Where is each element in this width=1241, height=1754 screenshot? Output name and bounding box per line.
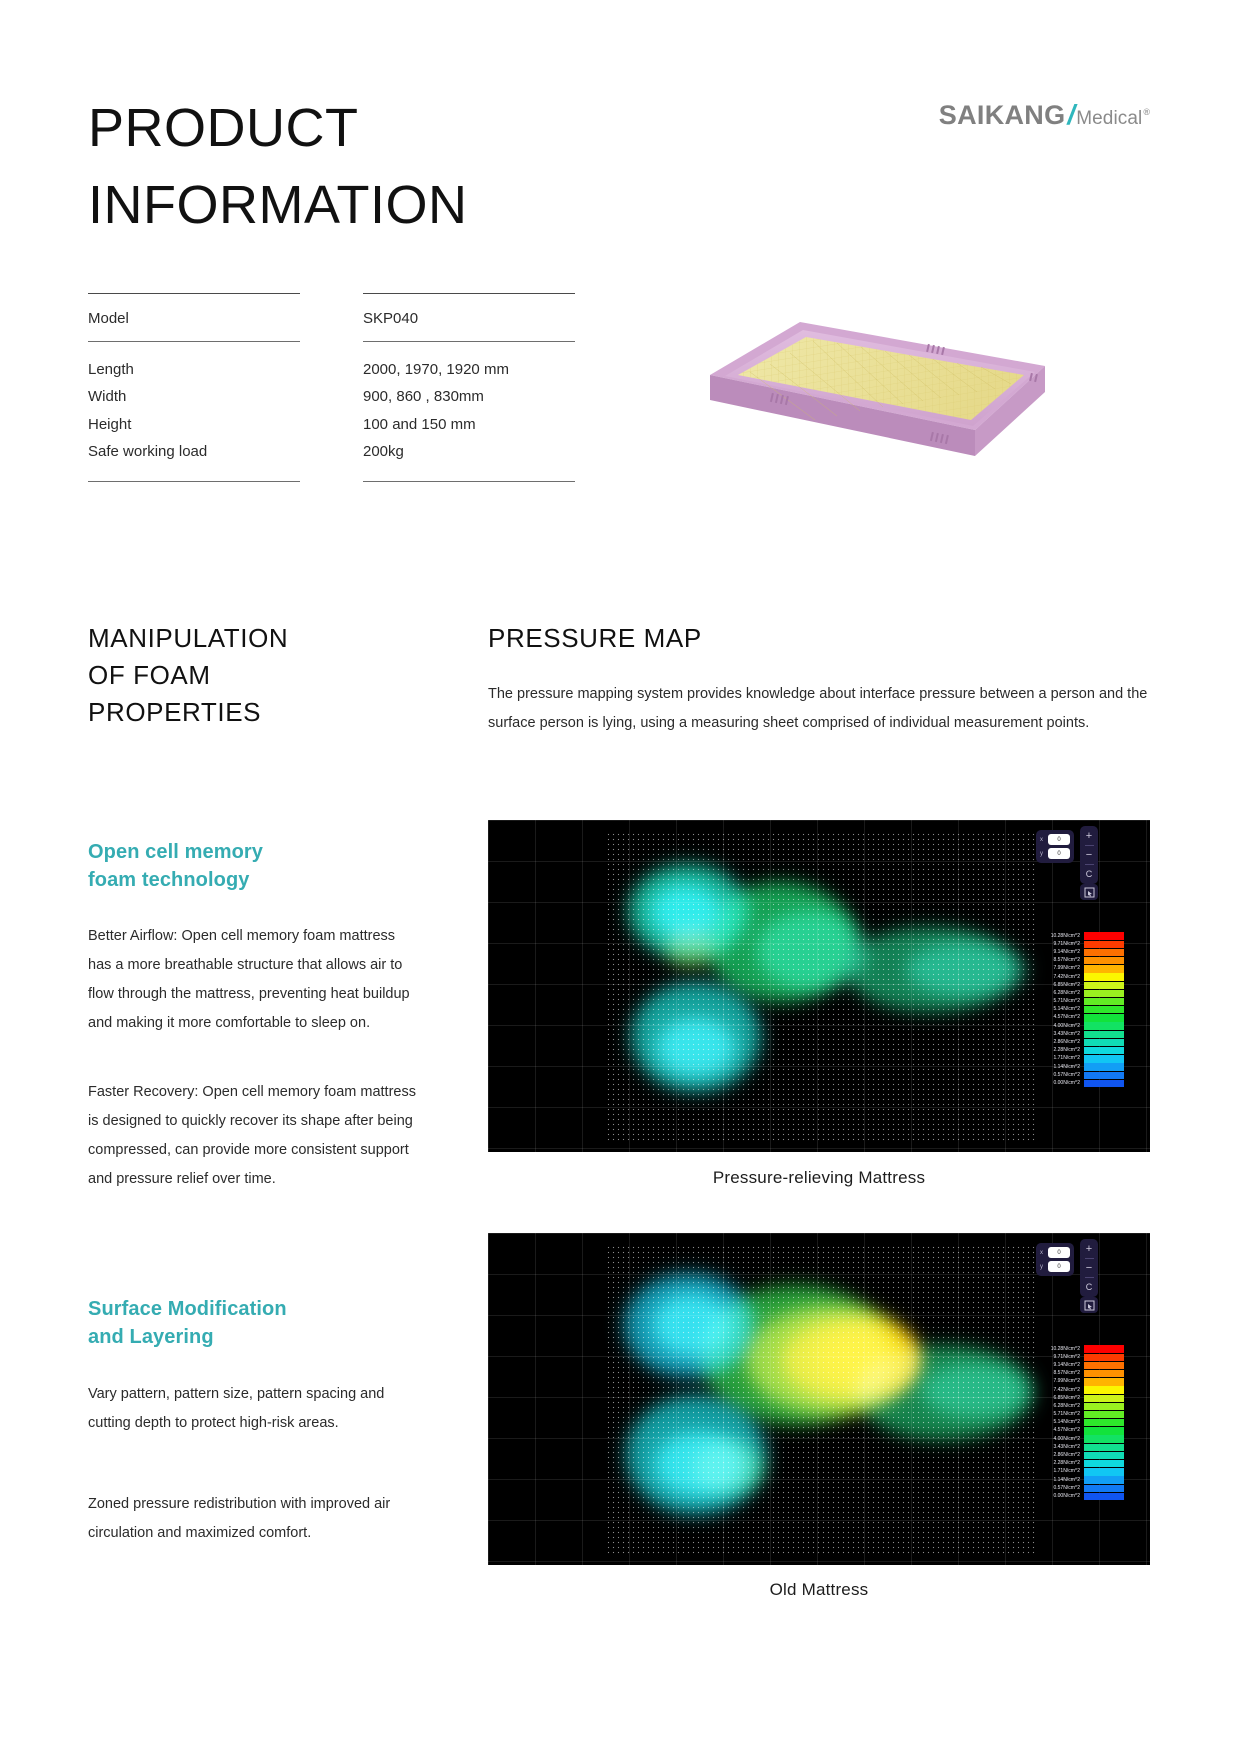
- pressure-legend-scale: 10.28N/cm^2 9.71N/cm^2 9.14N/cm^2 8.57N/…: [1040, 932, 1124, 1088]
- legend-item: 0.57N/cm^2: [1040, 1071, 1124, 1079]
- open-cell-paragraph-2: Faster Recovery: Open cell memory foam m…: [88, 1078, 420, 1194]
- y-axis-label: y: [1040, 1264, 1045, 1270]
- spec-label-length: Length: [88, 356, 333, 383]
- zoom-out-button[interactable]: −: [1082, 848, 1096, 862]
- legend-item: 1.71N/cm^2: [1040, 1468, 1124, 1476]
- legend-item: 2.28N/cm^2: [1040, 1047, 1124, 1055]
- legend-item: 9.14N/cm^2: [1040, 948, 1124, 956]
- product-information-page: PRODUCT INFORMATION SAIKANG / Medical ® …: [0, 0, 1241, 1754]
- legend-item: 4.57N/cm^2: [1040, 1014, 1124, 1022]
- spec-dimension-labels: Length Width Height Safe working load: [88, 342, 333, 481]
- spec-value-height: 100 and 150 mm: [363, 411, 608, 438]
- open-cell-heading-line-1: Open cell memory: [88, 838, 418, 866]
- spec-value-length: 2000, 1970, 1920 mm: [363, 356, 608, 383]
- legend-item: 6.28N/cm^2: [1040, 989, 1124, 997]
- toolbar-divider: [1085, 1277, 1094, 1278]
- brand-logo: SAIKANG / Medical ®: [939, 99, 1149, 131]
- select-region-button[interactable]: [1080, 1297, 1098, 1313]
- legend-item: 1.71N/cm^2: [1040, 1055, 1124, 1063]
- legend-item: 6.28N/cm^2: [1040, 1402, 1124, 1410]
- y-coordinate-value[interactable]: 0: [1048, 848, 1070, 859]
- open-cell-paragraph-1: Better Airflow: Open cell memory foam ma…: [88, 922, 420, 1038]
- spec-label-safe-working-load: Safe working load: [88, 438, 333, 465]
- legend-item: 4.57N/cm^2: [1040, 1427, 1124, 1435]
- y-coordinate-value[interactable]: 0: [1048, 1261, 1070, 1272]
- zoom-in-button[interactable]: +: [1082, 1242, 1096, 1256]
- legend-item: 2.86N/cm^2: [1040, 1451, 1124, 1459]
- brand-subtitle: Medical: [1076, 108, 1142, 130]
- surface-modification-heading: Surface Modification and Layering: [88, 1295, 418, 1352]
- surface-paragraph-2: Zoned pressure redistribution with impro…: [88, 1490, 408, 1548]
- pressure-sensor-dot-matrix: [606, 832, 1036, 1142]
- page-title: PRODUCT INFORMATION: [88, 90, 728, 243]
- legend-item: 0.00N/cm^2: [1040, 1079, 1124, 1087]
- legend-item: 9.71N/cm^2: [1040, 1353, 1124, 1361]
- surface-heading-line-2: and Layering: [88, 1323, 418, 1351]
- x-coordinate-value[interactable]: 0: [1048, 1247, 1070, 1258]
- legend-item: 0.00N/cm^2: [1040, 1492, 1124, 1500]
- legend-item: 9.71N/cm^2: [1040, 940, 1124, 948]
- pressure-map-panel-relieving[interactable]: Pressure Area Point 4796 pcs Area 1159 c…: [488, 820, 1150, 1152]
- panel-caption-relieving: Pressure-relieving Mattress: [488, 1168, 1150, 1188]
- spec-divider-bottom: [88, 481, 300, 482]
- legend-item: 9.14N/cm^2: [1040, 1361, 1124, 1369]
- panel-caption-old: Old Mattress: [488, 1580, 1150, 1600]
- specification-table: Model Length Width Height Safe working l…: [88, 293, 558, 482]
- y-axis-label: y: [1040, 851, 1045, 857]
- mattress-3d-illustration: [575, 280, 1045, 480]
- spec-model-value: SKP040: [363, 294, 608, 341]
- manipulation-heading-line-2: OF FOAM: [88, 657, 388, 694]
- spec-value-width: 900, 860 , 830mm: [363, 383, 608, 410]
- legend-item: 8.57N/cm^2: [1040, 957, 1124, 965]
- registered-trademark-icon: ®: [1143, 107, 1150, 117]
- legend-item: 1.14N/cm^2: [1040, 1063, 1124, 1071]
- spec-values-column: SKP040 2000, 1970, 1920 mm 900, 860 , 83…: [363, 293, 608, 482]
- legend-item: 8.57N/cm^2: [1040, 1370, 1124, 1378]
- toolbar-divider: [1085, 1258, 1094, 1259]
- legend-item: 6.85N/cm^2: [1040, 981, 1124, 989]
- open-cell-memory-foam-heading: Open cell memory foam technology: [88, 838, 418, 895]
- page-title-line-2: INFORMATION: [88, 167, 728, 244]
- legend-item: 7.42N/cm^2: [1040, 1386, 1124, 1394]
- pressure-map-panel-old[interactable]: Pressure Area Point 4796 pcs Area 1159 c…: [488, 1233, 1150, 1565]
- brand-name: SAIKANG: [939, 100, 1066, 131]
- x-axis-label: x: [1040, 837, 1045, 843]
- legend-item: 5.71N/cm^2: [1040, 1411, 1124, 1419]
- legend-item: 5.14N/cm^2: [1040, 1006, 1124, 1014]
- zoom-in-button[interactable]: +: [1082, 829, 1096, 843]
- legend-item: 7.99N/cm^2: [1040, 1378, 1124, 1386]
- spec-value-safe-working-load: 200kg: [363, 438, 608, 465]
- legend-item: 3.43N/cm^2: [1040, 1030, 1124, 1038]
- open-cell-heading-line-2: foam technology: [88, 866, 418, 894]
- surface-paragraph-1: Vary pattern, pattern size, pattern spac…: [88, 1380, 408, 1438]
- manipulation-heading-line-1: MANIPULATION: [88, 620, 388, 657]
- legend-item: 10.28N/cm^2: [1040, 932, 1124, 940]
- toolbar-divider: [1085, 845, 1094, 846]
- pressure-map-sensor-area[interactable]: [606, 832, 1036, 1142]
- reset-view-button[interactable]: C: [1082, 867, 1096, 881]
- legend-item: 5.71N/cm^2: [1040, 998, 1124, 1006]
- spec-model-label: Model: [88, 294, 333, 341]
- brand-slash-icon: /: [1067, 99, 1075, 131]
- reset-view-button[interactable]: C: [1082, 1280, 1096, 1294]
- legend-item: 4.00N/cm^2: [1040, 1435, 1124, 1443]
- spec-label-width: Width: [88, 383, 333, 410]
- surface-heading-line-1: Surface Modification: [88, 1295, 418, 1323]
- legend-item: 2.86N/cm^2: [1040, 1038, 1124, 1046]
- spec-dimension-values: 2000, 1970, 1920 mm 900, 860 , 830mm 100…: [363, 342, 608, 481]
- manipulation-of-foam-heading: MANIPULATION OF FOAM PROPERTIES: [88, 620, 388, 731]
- zoom-toolbar[interactable]: + − C: [1080, 826, 1098, 884]
- x-coordinate-value[interactable]: 0: [1048, 834, 1070, 845]
- manipulation-heading-line-3: PROPERTIES: [88, 694, 388, 731]
- legend-item: 7.42N/cm^2: [1040, 973, 1124, 981]
- legend-item: 3.43N/cm^2: [1040, 1443, 1124, 1451]
- coordinate-readout[interactable]: x 0 y 0: [1036, 830, 1074, 863]
- legend-item: 10.28N/cm^2: [1040, 1345, 1124, 1353]
- zoom-toolbar[interactable]: + − C: [1080, 1239, 1098, 1297]
- pressure-legend-scale: 10.28N/cm^2 9.71N/cm^2 9.14N/cm^2 8.57N/…: [1040, 1345, 1124, 1501]
- pressure-sensor-dot-matrix: [606, 1245, 1036, 1555]
- spec-label-height: Height: [88, 411, 333, 438]
- zoom-out-button[interactable]: −: [1082, 1261, 1096, 1275]
- product-image-mattress: [575, 280, 1045, 480]
- legend-item: 0.57N/cm^2: [1040, 1484, 1124, 1492]
- coordinate-readout[interactable]: x 0 y 0: [1036, 1243, 1074, 1276]
- pressure-map-sensor-area[interactable]: [606, 1245, 1036, 1555]
- page-title-line-1: PRODUCT: [88, 90, 728, 167]
- spec-value-divider-bottom: [363, 481, 575, 482]
- legend-item: 4.00N/cm^2: [1040, 1022, 1124, 1030]
- x-axis-label: x: [1040, 1250, 1045, 1256]
- legend-item: 2.28N/cm^2: [1040, 1460, 1124, 1468]
- toolbar-divider: [1085, 864, 1094, 865]
- pressure-map-intro-paragraph: The pressure mapping system provides kno…: [488, 680, 1150, 738]
- legend-item: 1.14N/cm^2: [1040, 1476, 1124, 1484]
- select-region-icon: [1084, 1300, 1095, 1311]
- spec-labels-column: Model Length Width Height Safe working l…: [88, 293, 333, 482]
- select-region-button[interactable]: [1080, 884, 1098, 900]
- legend-item: 7.99N/cm^2: [1040, 965, 1124, 973]
- pressure-map-heading: PRESSURE MAP: [488, 620, 888, 657]
- legend-item: 5.14N/cm^2: [1040, 1419, 1124, 1427]
- legend-item: 6.85N/cm^2: [1040, 1394, 1124, 1402]
- select-region-icon: [1084, 887, 1095, 898]
